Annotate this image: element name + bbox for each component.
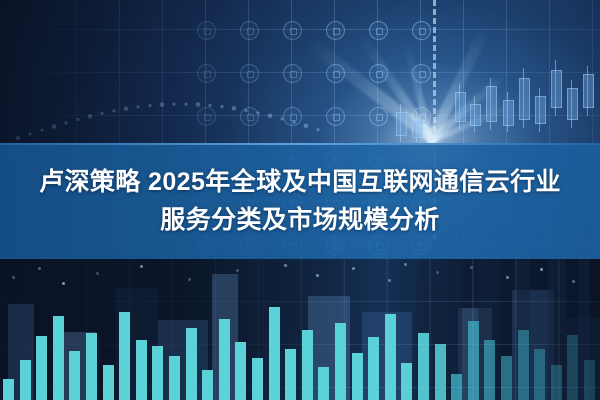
chart-bar [285,349,296,400]
arc-dot [40,129,43,132]
arc-dot [76,118,79,121]
particle-dot [188,278,191,281]
arc-dot [244,109,247,112]
candlestick-body [551,70,562,108]
particle-dot [62,282,65,285]
arc-dot [184,102,187,105]
arc-dot [52,124,57,129]
arc-dot [208,104,211,107]
arc-dot [292,121,295,124]
arc-dot [16,136,21,141]
title-text-container: 卢深策略 2025年全球及中国互联网通信云行业 服务分类及市场规模分析 [0,143,600,259]
candlestick-body [486,86,497,122]
candlestick-body [519,78,530,120]
arc-dot [28,132,31,135]
arc-dot [88,114,93,119]
chart-bar [53,316,64,400]
chart-bar [169,356,180,400]
arc-dot [232,106,237,111]
candlestick-body [455,92,466,122]
particle-dot [140,265,143,268]
candlestick-body [470,104,481,126]
chart-bar [86,333,97,400]
chart-bar [69,351,80,400]
chart-bar [235,342,246,400]
particle-dot [236,269,239,272]
title-band: 卢深策略 2025年全球及中国互联网通信云行业 服务分类及市场规模分析 [0,143,600,259]
candlestick-body [412,120,423,138]
chart-bar [186,328,197,400]
banner-image: 卢深策略 2025年全球及中国互联网通信云行业 服务分类及市场规模分析 [0,0,600,400]
particle-dot [284,264,287,267]
chart-bar [269,307,280,400]
particle-dot [38,267,41,270]
arc-dot [124,106,129,111]
candlestick-body [567,88,578,120]
arc-dot [172,102,175,105]
arc-dot [160,102,165,107]
arc-dot [316,128,319,131]
arc-dot [100,112,103,115]
arc-dot [64,121,67,124]
chart-bar [36,336,47,400]
bottom-grid-overlay-right [300,258,600,400]
arc-dot [196,102,201,107]
arc-dot [112,109,115,112]
chart-bar [119,312,130,400]
chart-bar [136,340,147,400]
candlestick-body [535,96,546,124]
arc-dot [268,113,273,118]
candlestick-body [396,112,407,136]
arc-dot [148,104,151,107]
chart-bar [103,365,114,400]
chart-bar [219,319,230,400]
chart-bar [152,346,163,400]
candlestick-body [583,74,594,108]
arc-dot [304,124,309,129]
dotted-arc-curve [0,0,600,160]
candlestick-body [503,100,514,126]
title-line-1: 卢深策略 2025年全球及中国互联网通信云行业 [39,164,561,200]
arc-dot [280,117,283,120]
title-line-2: 服务分类及市场规模分析 [160,202,439,238]
arc-dot [256,111,259,114]
chart-bar [20,360,31,400]
chart-bar [3,379,14,400]
chart-bar [252,358,263,400]
arc-dot [220,105,223,108]
chart-bar [202,370,213,400]
particle-dot [96,272,99,275]
particle-dot [12,276,15,279]
arc-dot [136,105,139,108]
